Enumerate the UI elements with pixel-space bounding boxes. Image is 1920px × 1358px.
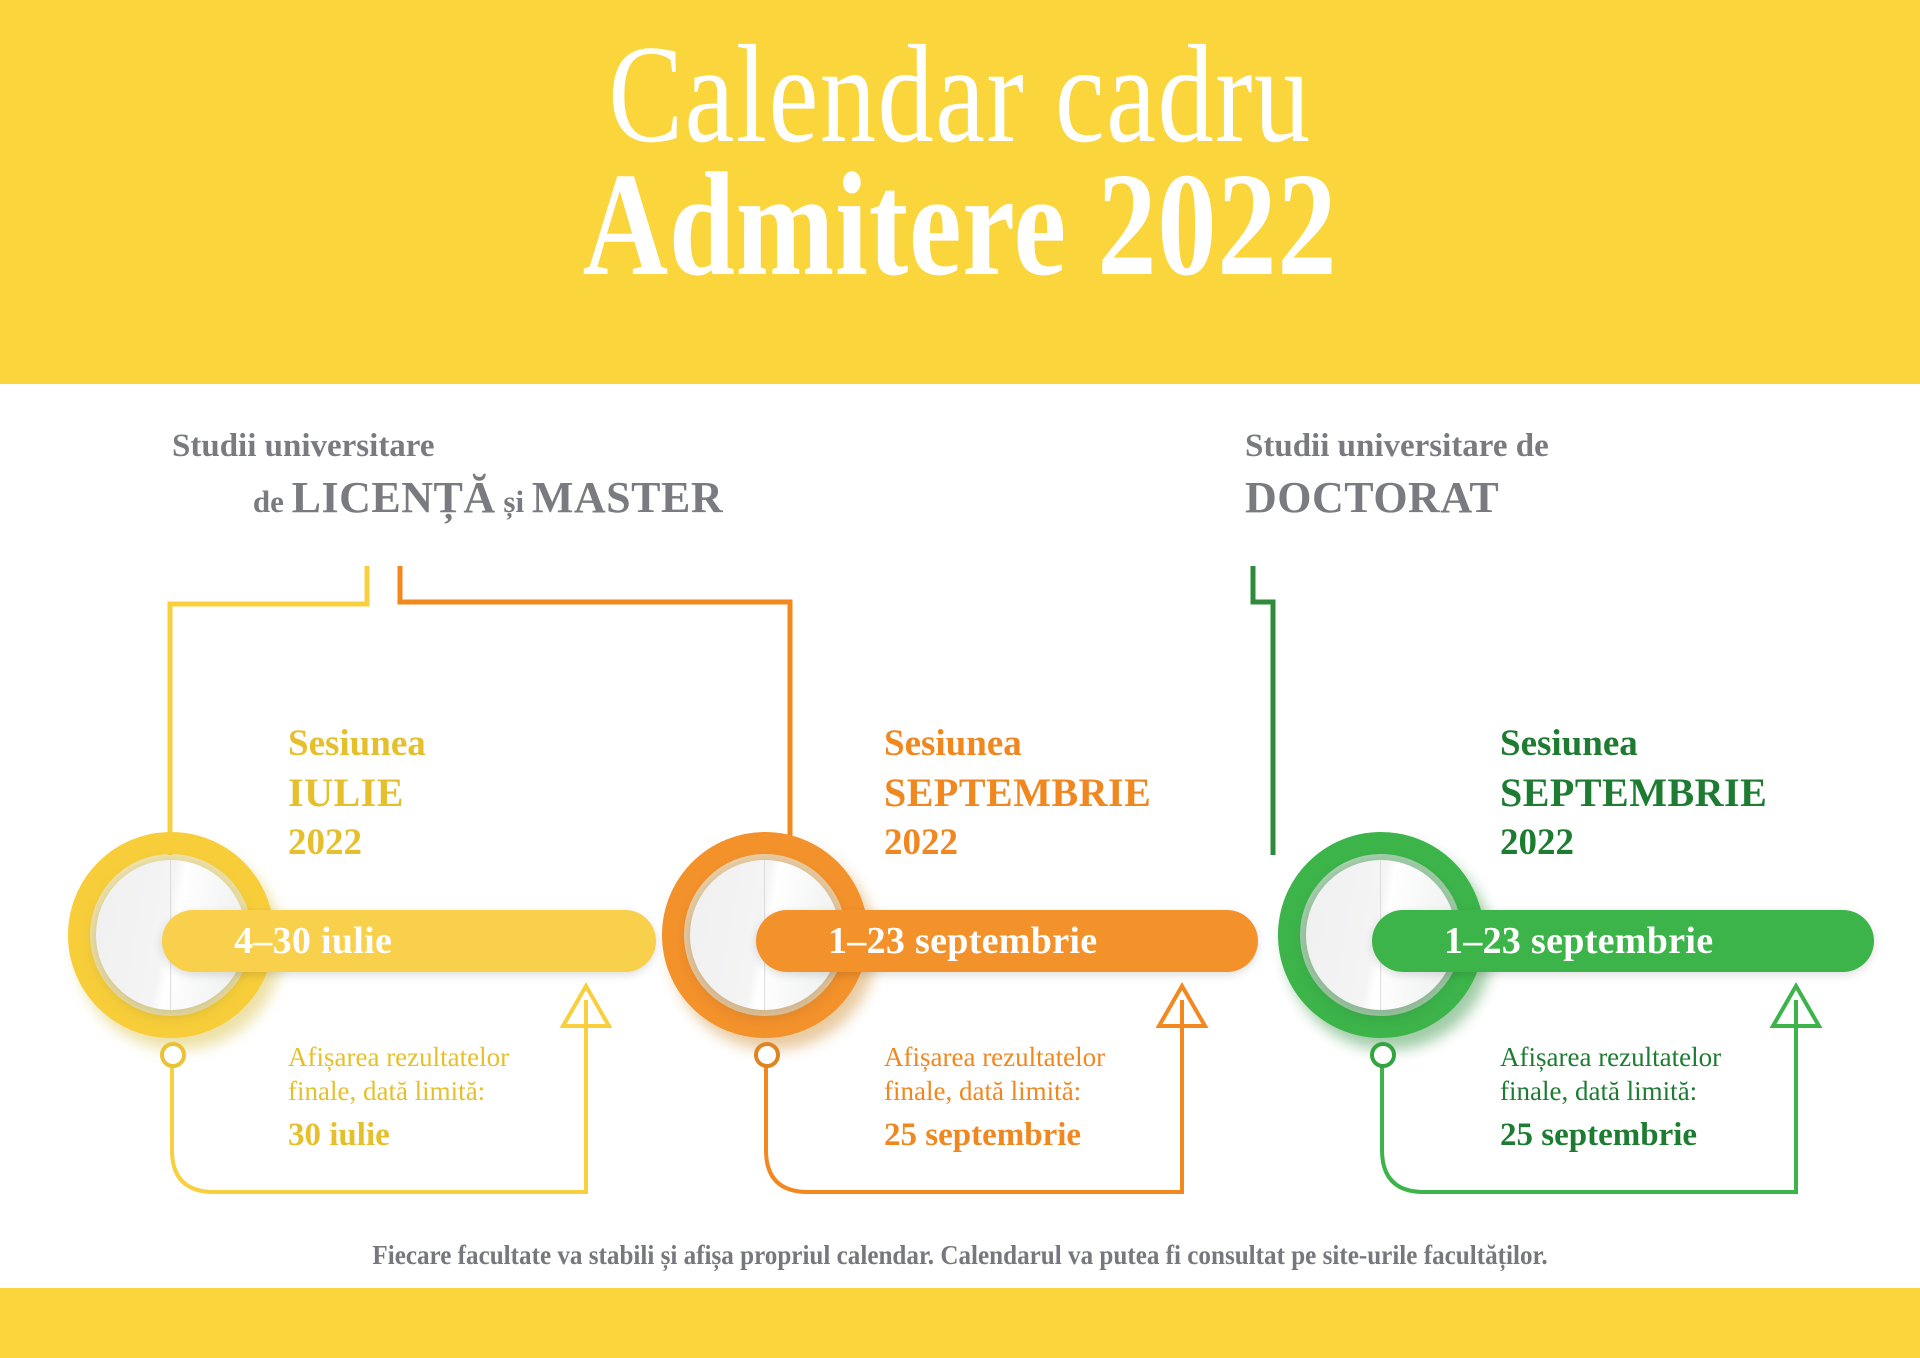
- session-month: SEPTEMBRIE: [884, 767, 1151, 818]
- period-pill-iulie[interactable]: 4–30 iulie: [162, 910, 656, 972]
- heading-licenta: LICENȚĂ: [292, 473, 496, 522]
- heading-master: MASTER: [532, 473, 723, 522]
- session-word: Sesiunea: [288, 720, 426, 767]
- heading-prefix: de: [253, 484, 292, 519]
- session-month: SEPTEMBRIE: [1500, 767, 1767, 818]
- title-line-2: Admitere 2022: [192, 155, 1728, 296]
- period-pill-septembrie-licenta[interactable]: 1–23 septembrie: [756, 910, 1258, 972]
- heading-doctorat: DOCTORAT: [1245, 473, 1499, 522]
- connector-node-icon: [1370, 1042, 1396, 1068]
- heading-conj: și: [496, 484, 532, 519]
- column-heading-line1: Studii universitare de: [1245, 426, 1675, 466]
- result-line-1: Afișarea rezultatelor: [884, 1040, 1105, 1074]
- result-line-2: finale, dată limită:: [288, 1074, 509, 1108]
- result-line-1: Afișarea rezultatelor: [1500, 1040, 1721, 1074]
- result-line-1: Afișarea rezultatelor: [288, 1040, 509, 1074]
- session-month: IULIE: [288, 767, 426, 818]
- column-heading-line2: DOCTORAT: [1245, 470, 1675, 525]
- column-heading-line1: Studii universitare: [168, 426, 808, 466]
- session-year: 2022: [884, 819, 1151, 866]
- result-line-2: finale, dată limită:: [884, 1074, 1105, 1108]
- footer-band: [0, 1288, 1920, 1358]
- result-line-2: finale, dată limită:: [1500, 1074, 1721, 1108]
- bracket-orange: [400, 566, 790, 855]
- arrow-orange: [1159, 986, 1205, 1034]
- period-text: 4–30 iulie: [234, 919, 392, 963]
- period-text: 1–23 septembrie: [1444, 919, 1713, 963]
- title-line-1: Calendar cadru: [192, 28, 1728, 161]
- result-date: 30 iulie: [288, 1115, 509, 1157]
- arrow-green: [1773, 986, 1819, 1034]
- session-label-iulie: Sesiunea IULIE 2022: [288, 720, 426, 866]
- result-date: 25 septembrie: [884, 1115, 1105, 1157]
- period-pill-septembrie-doctorat[interactable]: 1–23 septembrie: [1372, 910, 1874, 972]
- column-heading-doctorat: Studii universitare de DOCTORAT: [1245, 426, 1675, 525]
- footer-note: Fiecare facultate va stabili și afișa pr…: [67, 1240, 1853, 1271]
- session-label-septembrie: Sesiunea SEPTEMBRIE 2022: [884, 720, 1151, 866]
- session-word: Sesiunea: [884, 720, 1151, 767]
- result-block-septembrie-licenta: Afișarea rezultatelor finale, dată limit…: [884, 1040, 1105, 1157]
- session-year: 2022: [288, 819, 426, 866]
- session-word: Sesiunea: [1500, 720, 1767, 767]
- infographic-canvas: Calendar cadru Admitere 2022 Studii univ…: [0, 0, 1920, 1358]
- session-label-septembrie-doctorat: Sesiunea SEPTEMBRIE 2022: [1500, 720, 1767, 866]
- session-year: 2022: [1500, 819, 1767, 866]
- period-text: 1–23 septembrie: [828, 919, 1097, 963]
- result-block-iulie: Afișarea rezultatelor finale, dată limit…: [288, 1040, 509, 1157]
- result-date: 25 septembrie: [1500, 1115, 1721, 1157]
- connector-node-icon: [160, 1042, 186, 1068]
- bracket-green: [1253, 566, 1273, 855]
- column-heading-licenta-master: Studii universitare de LICENȚĂ și MASTER: [168, 426, 808, 525]
- arrow-yellow: [563, 986, 609, 1034]
- column-heading-line2: de LICENȚĂ și MASTER: [168, 470, 808, 525]
- result-block-septembrie-doctorat: Afișarea rezultatelor finale, dată limit…: [1500, 1040, 1721, 1157]
- connector-node-icon: [754, 1042, 780, 1068]
- page-title: Calendar cadru Admitere 2022: [0, 28, 1920, 296]
